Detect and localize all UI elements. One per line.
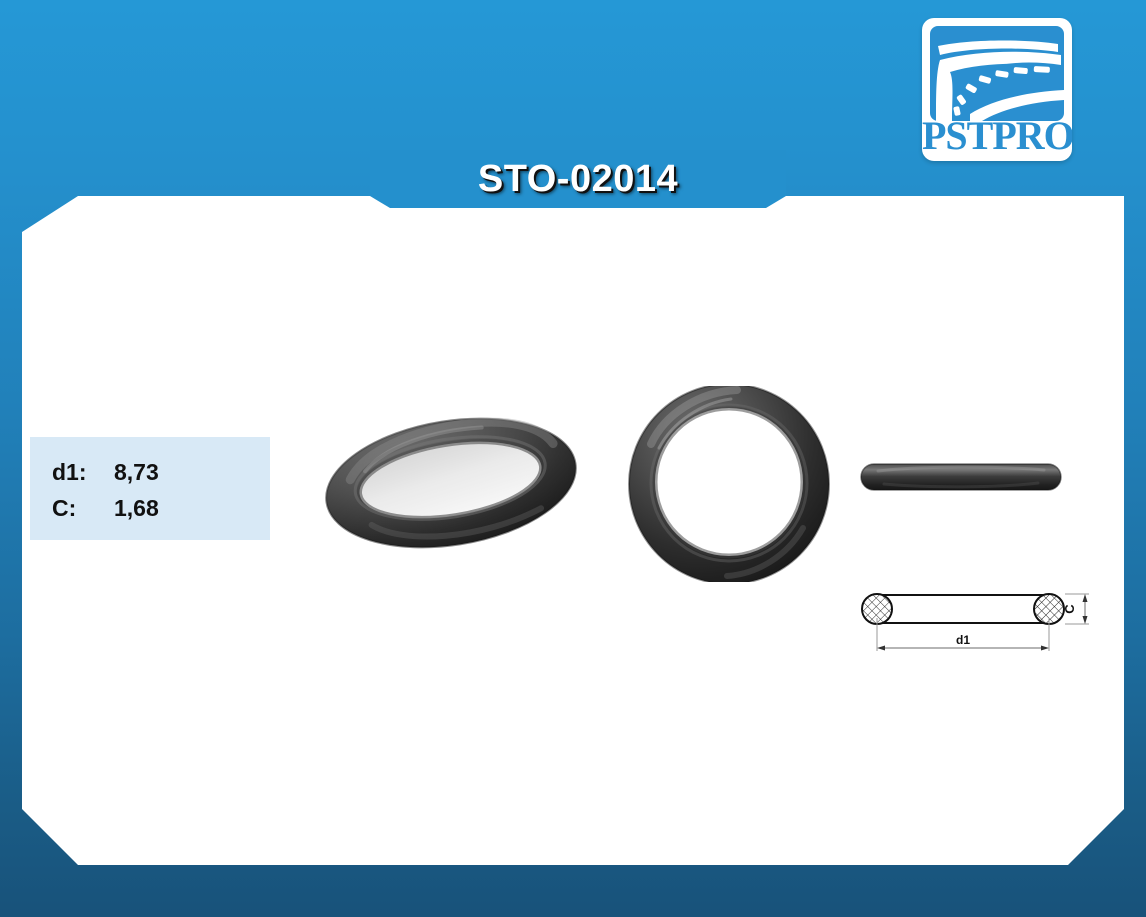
dimension-label-c: C <box>1062 604 1077 614</box>
spec-value-c: 1,68 <box>114 490 159 526</box>
specifications-box: d1: 8,73 C: 1,68 <box>30 437 270 540</box>
oring-edge-view <box>858 458 1064 496</box>
oring-cross-section-diagram: d1 C <box>855 585 1100 660</box>
page-title: STO-02014 <box>370 150 786 208</box>
table-row: d1: 8,73 <box>52 454 159 490</box>
brand-logo: PSTPRO <box>922 18 1072 161</box>
oring-perspective-view <box>322 414 580 552</box>
table-row: C: 1,68 <box>52 490 159 526</box>
road-curve-icon <box>930 26 1064 121</box>
spec-key-d1: d1: <box>52 454 114 490</box>
spec-value-d1: 8,73 <box>114 454 159 490</box>
logo-wordmark: PSTPRO <box>922 114 1072 158</box>
specifications-table: d1: 8,73 C: 1,68 <box>52 454 159 526</box>
dimension-label-d1: d1 <box>956 633 970 647</box>
spec-key-c: C: <box>52 490 114 526</box>
oring-front-view <box>627 386 831 582</box>
product-sheet-page: STO-02014 <box>0 0 1146 917</box>
